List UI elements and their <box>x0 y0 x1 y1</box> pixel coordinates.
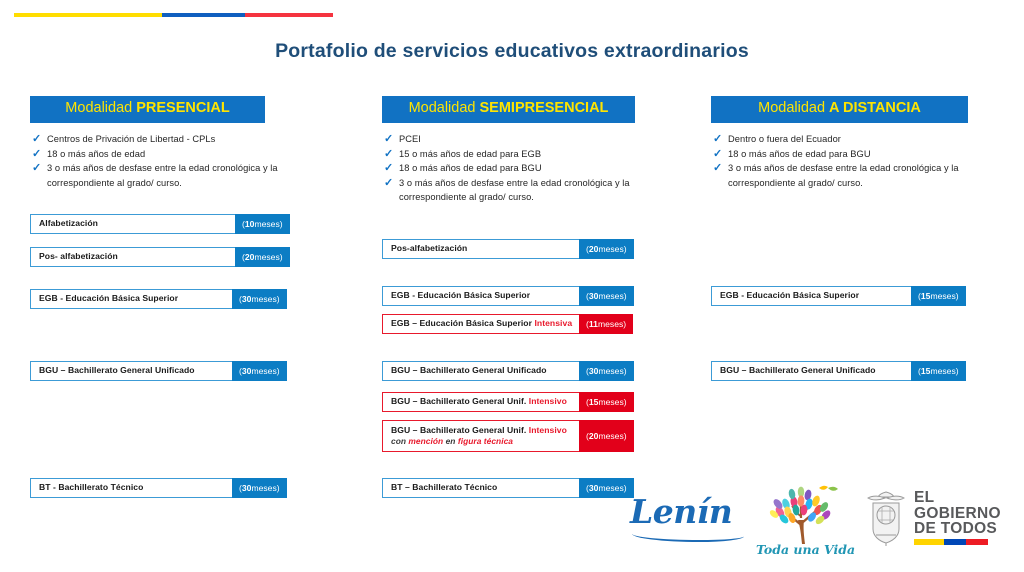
program-bar[interactable]: BGU – Bachillerato General Unificado(30 … <box>30 361 295 381</box>
lenin-signature-text: Lenín <box>630 494 748 530</box>
duration-suffix: meses) <box>598 244 626 254</box>
program-duration-badge: (20 meses) <box>579 420 634 452</box>
requirement-item: ✓18 o más años de edad para BGU <box>382 161 644 176</box>
program-name-line: EGB - Educación Básica Superior <box>391 290 579 302</box>
gobierno-de-todos-logo: EL GOBIERNO DE TODOS <box>862 489 1012 551</box>
program-label: BGU – Bachillerato General Unif. Intensi… <box>382 420 579 452</box>
gobierno-de-todos-text: EL GOBIERNO DE TODOS <box>914 490 1001 537</box>
program-name-line: BGU – Bachillerato General Unificado <box>720 365 911 377</box>
duration-suffix: meses) <box>930 366 958 376</box>
program-duration-badge: (30 meses) <box>232 289 287 309</box>
program-bar[interactable]: Alfabetización(10 meses) <box>30 214 295 234</box>
duration-value: 15 <box>921 291 931 301</box>
program-bar[interactable]: BGU – Bachillerato General Unif. Intensi… <box>382 420 644 452</box>
modality-header-semipresencial: Modalidad SEMIPRESENCIAL <box>382 96 635 123</box>
requirement-text: Centros de Privación de Libertad - CPLs <box>47 132 215 147</box>
requirement-text: 3 o más años de desfase entre la edad cr… <box>399 176 644 205</box>
program-name-line: EGB – Educación Básica Superior Intensiv… <box>391 318 579 330</box>
gobierno-flag-stripe <box>914 539 988 545</box>
duration-suffix: meses) <box>598 366 626 376</box>
duration-suffix: meses) <box>598 431 626 441</box>
duration-value: 15 <box>921 366 931 376</box>
check-icon: ✓ <box>382 161 399 176</box>
check-icon: ✓ <box>382 132 399 147</box>
program-bar[interactable]: EGB - Educación Básica Superior(15 meses… <box>711 286 977 306</box>
requirement-text: 3 o más años de desfase entre la edad cr… <box>728 161 977 190</box>
program-name-line: BGU – Bachillerato General Unificado <box>39 365 232 377</box>
program-name-line: Pos-alfabetización <box>391 243 579 255</box>
modality-header-prefix: Modalidad <box>409 100 480 116</box>
duration-suffix: meses) <box>251 294 279 304</box>
logo-strip: Lenín <box>0 482 1024 572</box>
program-name: BGU – Bachillerato General Unificado <box>39 365 195 375</box>
duration-suffix: meses) <box>254 252 282 262</box>
program-name-line: BGU – Bachillerato General Unif. Intensi… <box>391 425 579 437</box>
duration-value: 20 <box>589 431 599 441</box>
program-name: BGU – Bachillerato General Unificado <box>391 365 547 375</box>
program-bar[interactable]: BGU – Bachillerato General Unificado(15 … <box>711 361 977 381</box>
check-icon: ✓ <box>711 147 728 162</box>
program-name: EGB – Educación Básica Superior <box>391 318 534 328</box>
program-label: BGU – Bachillerato General Unificado <box>382 361 579 381</box>
colorful-tree-icon <box>758 484 848 546</box>
modality-header-name: SEMIPRESENCIAL <box>480 100 609 116</box>
modality-header-prefix: Modalidad <box>758 100 829 116</box>
program-name: BGU – Bachillerato General Unif. <box>391 425 529 435</box>
lenin-swoosh-underline <box>632 528 744 542</box>
gob-line-2: GOBIERNO <box>914 506 1001 522</box>
requirement-item: ✓18 o más años de edad <box>30 147 295 162</box>
program-duration-badge: (15 meses) <box>911 361 966 381</box>
check-icon: ✓ <box>30 161 47 176</box>
gob-stripe-red <box>966 539 988 545</box>
duration-suffix: meses) <box>251 366 279 376</box>
duration-value: 11 <box>589 319 598 329</box>
modality-header-prefix: Modalidad <box>65 100 136 116</box>
requirements-list-a-distancia: ✓Dentro o fuera del Ecuador✓18 o más año… <box>711 132 977 190</box>
program-label: BGU – Bachillerato General Unificado <box>711 361 911 381</box>
duration-value: 20 <box>245 252 255 262</box>
gob-stripe-yellow <box>914 539 944 545</box>
program-duration-badge: (15 meses) <box>579 392 634 412</box>
duration-suffix: meses) <box>598 319 626 329</box>
modality-column-semipresencial: Modalidad SEMIPRESENCIAL✓PCEI✓15 o más a… <box>382 96 644 205</box>
program-duration-badge: (30 meses) <box>579 361 634 381</box>
program-name: Pos- alfabetización <box>39 251 118 261</box>
program-bar[interactable]: EGB - Educación Básica Superior(30 meses… <box>30 289 295 309</box>
program-duration-badge: (15 meses) <box>911 286 966 306</box>
toda-una-vida-text: Toda una Vida <box>756 542 855 557</box>
toda-una-vida-logo: Toda una Vida <box>758 484 848 562</box>
duration-value: 30 <box>242 366 252 376</box>
requirement-item: ✓15 o más años de edad para EGB <box>382 147 644 162</box>
program-name-line: Alfabetización <box>39 218 235 230</box>
modality-header-name: A DISTANCIA <box>829 100 921 116</box>
requirement-text: 18 o más años de edad para BGU <box>728 147 871 162</box>
program-bar[interactable]: BGU – Bachillerato General Unificado(30 … <box>382 361 644 381</box>
duration-suffix: meses) <box>930 291 958 301</box>
check-icon: ✓ <box>30 147 47 162</box>
gob-stripe-blue <box>944 539 966 545</box>
program-name: Pos-alfabetización <box>391 243 467 253</box>
program-duration-badge: (30 meses) <box>232 361 287 381</box>
program-label: BGU – Bachillerato General Unif. Intensi… <box>382 392 579 412</box>
modality-header-a-distancia: Modalidad A DISTANCIA <box>711 96 968 123</box>
requirement-item: ✓Centros de Privación de Libertad - CPLs <box>30 132 295 147</box>
program-name-intensive: Intensivo <box>529 396 567 406</box>
gob-line-3: DE TODOS <box>914 521 1001 537</box>
requirements-list-presencial: ✓Centros de Privación de Libertad - CPLs… <box>30 132 295 190</box>
check-icon: ✓ <box>382 147 399 162</box>
program-label: Pos- alfabetización <box>30 247 235 267</box>
program-name-intensive: Intensivo <box>529 425 567 435</box>
program-name: EGB - Educación Básica Superior <box>720 290 859 300</box>
program-bar[interactable]: Pos- alfabetización(20 meses) <box>30 247 295 267</box>
program-label: Pos-alfabetización <box>382 239 579 259</box>
subtitle-part-figura-tecnica: figura técnica <box>458 436 513 446</box>
duration-value: 30 <box>589 291 599 301</box>
duration-suffix: meses) <box>254 219 282 229</box>
duration-value: 30 <box>242 294 252 304</box>
duration-value: 20 <box>589 244 599 254</box>
program-name-line: EGB - Educación Básica Superior <box>39 293 232 305</box>
program-duration-badge: (11 meses) <box>579 314 633 334</box>
program-name: Alfabetización <box>39 218 98 228</box>
program-name: BGU – Bachillerato General Unif. <box>391 396 529 406</box>
duration-suffix: meses) <box>598 397 626 407</box>
modality-column-a-distancia: Modalidad A DISTANCIA✓Dentro o fuera del… <box>711 96 977 190</box>
program-duration-badge: (30 meses) <box>579 286 634 306</box>
program-name: EGB - Educación Básica Superior <box>39 293 178 303</box>
requirement-text: PCEI <box>399 132 421 147</box>
program-label: EGB - Educación Básica Superior <box>711 286 911 306</box>
requirements-list-semipresencial: ✓PCEI✓15 o más años de edad para EGB✓18 … <box>382 132 644 205</box>
requirement-text: Dentro o fuera del Ecuador <box>728 132 841 147</box>
program-name: EGB - Educación Básica Superior <box>391 290 530 300</box>
subtitle-part-con: con <box>391 436 408 446</box>
program-duration-badge: (20 meses) <box>579 239 634 259</box>
check-icon: ✓ <box>382 176 399 191</box>
program-label: EGB – Educación Básica Superior Intensiv… <box>382 314 579 334</box>
requirement-item: ✓3 o más años de desfase entre la edad c… <box>382 176 644 205</box>
program-label: BGU – Bachillerato General Unificado <box>30 361 232 381</box>
gob-line-1: EL <box>914 490 1001 506</box>
requirement-text: 3 o más años de desfase entre la edad cr… <box>47 161 295 190</box>
program-name-intensive: Intensiva <box>534 318 572 328</box>
flag-stripe-yellow <box>14 13 162 17</box>
program-subtitle-line: con mención en figura técnica <box>391 436 579 448</box>
requirement-item: ✓PCEI <box>382 132 644 147</box>
modality-column-presencial: Modalidad PRESENCIAL✓Centros de Privació… <box>30 96 295 190</box>
check-icon: ✓ <box>711 161 728 176</box>
program-duration-badge: (20 meses) <box>235 247 290 267</box>
program-duration-badge: (10 meses) <box>235 214 290 234</box>
flag-stripe-red <box>245 13 333 17</box>
duration-value: 30 <box>589 366 599 376</box>
requirement-text: 18 o más años de edad para BGU <box>399 161 542 176</box>
program-bar[interactable]: EGB – Educación Básica Superior Intensiv… <box>382 314 644 334</box>
program-name-line: BGU – Bachillerato General Unif. Intensi… <box>391 396 579 408</box>
duration-value: 15 <box>589 397 599 407</box>
subtitle-part-en: en <box>443 436 458 446</box>
program-name-line: Pos- alfabetización <box>39 251 235 263</box>
lenin-signature-logo: Lenín <box>630 494 748 546</box>
program-name-line: BGU – Bachillerato General Unificado <box>391 365 579 377</box>
requirement-item: ✓3 o más años de desfase entre la edad c… <box>30 161 295 190</box>
program-name-line: EGB - Educación Básica Superior <box>720 290 911 302</box>
program-name: BGU – Bachillerato General Unificado <box>720 365 876 375</box>
program-bar[interactable]: BGU – Bachillerato General Unif. Intensi… <box>382 392 644 412</box>
flag-stripe-blue <box>162 13 245 17</box>
program-label: EGB - Educación Básica Superior <box>30 289 232 309</box>
modality-header-presencial: Modalidad PRESENCIAL <box>30 96 265 123</box>
requirement-item: ✓3 o más años de desfase entre la edad c… <box>711 161 977 190</box>
requirement-item: ✓Dentro o fuera del Ecuador <box>711 132 977 147</box>
duration-suffix: meses) <box>598 291 626 301</box>
requirement-item: ✓18 o más años de edad para BGU <box>711 147 977 162</box>
check-icon: ✓ <box>711 132 728 147</box>
ecuador-flag-accent-bar <box>14 13 333 17</box>
program-label: Alfabetización <box>30 214 235 234</box>
ecuador-coat-of-arms-icon <box>862 489 910 547</box>
page-title: Portafolio de servicios educativos extra… <box>0 40 1024 63</box>
requirement-text: 18 o más años de edad <box>47 147 145 162</box>
program-bar[interactable]: EGB - Educación Básica Superior(30 meses… <box>382 286 644 306</box>
program-label: EGB - Educación Básica Superior <box>382 286 579 306</box>
requirement-text: 15 o más años de edad para EGB <box>399 147 541 162</box>
check-icon: ✓ <box>30 132 47 147</box>
slide-canvas: Portafolio de servicios educativos extra… <box>0 0 1024 572</box>
subtitle-part-mencion: mención <box>408 436 443 446</box>
duration-value: 10 <box>245 219 255 229</box>
modality-header-name: PRESENCIAL <box>136 100 229 116</box>
program-bar[interactable]: Pos-alfabetización(20 meses) <box>382 239 644 259</box>
